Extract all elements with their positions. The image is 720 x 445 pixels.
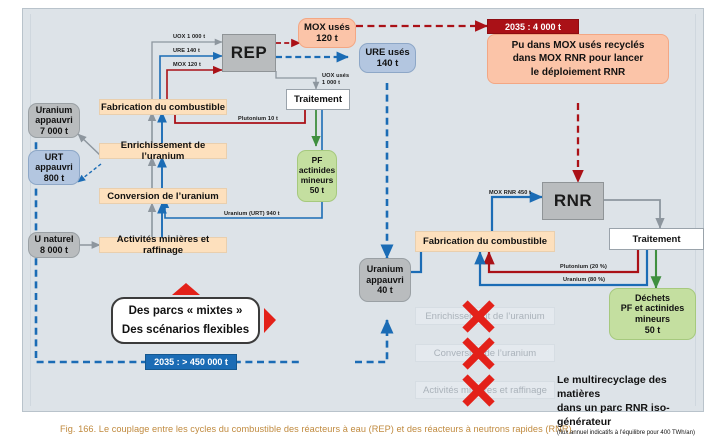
rep-process-fabrication[interactable]: Fabrication du combustible — [99, 99, 227, 115]
rnr-legend-line1: Le multirecyclage des matières — [557, 373, 707, 401]
stock-uranium-appauvri-line3: 7 000 t — [40, 126, 68, 137]
output-dechets-line4: 50 t — [645, 325, 661, 336]
suppressed-step-conversion: Conversion de l’uranium — [415, 344, 555, 362]
rnr-treatment-label: Traitement — [632, 234, 680, 245]
rnr-legend-note: (flux annuel indicatifs à l’équilibre po… — [557, 430, 707, 438]
output-mox-uses[interactable]: MOX usés 120 t — [298, 18, 356, 48]
annotation-red-note-line1: Pu dans MOX usés recyclés — [512, 39, 645, 52]
rnr-reactor-label: RNR — [554, 191, 592, 211]
rnr-legend: Le multirecyclage des matières dans un p… — [557, 373, 707, 438]
flow-label-uox-spent-qty: 1 000 t — [322, 80, 340, 86]
flow-label-mox-in: MOX 120 t — [173, 62, 201, 68]
callout-line2: Des scénarios flexibles — [122, 321, 249, 340]
stock-uranium-appauvri-line1: Uranium — [36, 105, 73, 116]
stock-u-naturel-8000[interactable]: U naturel 8 000 t — [28, 232, 80, 258]
rep-process-activites-minieres[interactable]: Activités minières et raffinage — [99, 237, 227, 253]
flow-label-uox-in: UOX 1 000 t — [173, 34, 205, 40]
rnr-legend-line2: dans un parc RNR iso-générateur — [557, 401, 707, 429]
rnr-treatment-box[interactable]: Traitement — [609, 228, 704, 250]
flow-label-uranium-rnr: Uranium (80 %) — [563, 277, 605, 283]
rep-process-activites-minieres-label: Activités minières et raffinage — [100, 234, 226, 256]
rep-reactor-box[interactable]: REP — [222, 34, 276, 72]
stock-uranium-appauvri-line2: appauvri — [35, 115, 73, 126]
output-pf-actinides-mineurs[interactable]: PF actinides mineurs 50 t — [297, 150, 337, 202]
rnr-process-fabrication[interactable]: Fabrication du combustible — [415, 231, 555, 252]
output-ure-uses-line2: 140 t — [377, 58, 399, 69]
flow-label-plutonium-rep: Plutonium 10 t — [238, 116, 278, 122]
rep-treatment-label: Traitement — [294, 94, 342, 105]
output-pf-line4: 50 t — [310, 186, 324, 196]
suppressed-step-conversion-label: Conversion de l’uranium — [434, 348, 536, 359]
rep-reactor-label: REP — [231, 43, 267, 63]
annotation-blue-tag-2035: 2035 : > 450 000 t — [145, 354, 237, 370]
output-dechets-line1: Déchets — [635, 293, 670, 304]
annotation-red-tag-2035: 2035 : 4 000 t — [487, 19, 579, 34]
suppressed-step-activites-label: Activités minières et raffinage — [423, 385, 547, 396]
output-dechets-line3: mineurs — [635, 314, 670, 325]
callout-parcs-mixtes: Des parcs « mixtes » Des scénarios flexi… — [111, 297, 260, 344]
stock-uranium-appauvri-40[interactable]: Uranium appauvri 40 t — [359, 258, 411, 302]
annotation-red-note: Pu dans MOX usés recyclés dans MOX RNR p… — [487, 34, 669, 84]
output-ure-uses-line1: URE usés — [365, 47, 409, 58]
stock-uranium-appauvri-7000[interactable]: Uranium appauvri 7 000 t — [28, 103, 80, 138]
annotation-red-tag-label: 2035 : 4 000 t — [505, 22, 561, 32]
output-dechets-pf-actinides[interactable]: Déchets PF et actinides mineurs 50 t — [609, 288, 696, 340]
rep-process-conversion-label: Conversion de l’uranium — [107, 191, 218, 202]
output-dechets-line2: PF et actinides — [621, 303, 685, 314]
rep-process-enrichissement[interactable]: Enrichissement de l’uranium — [99, 143, 227, 159]
suppressed-step-activites: Activités minières et raffinage — [415, 381, 555, 399]
rnr-process-fabrication-label: Fabrication du combustible — [423, 236, 547, 247]
stock-ua40-line3: 40 t — [377, 285, 393, 296]
stock-ua40-line1: Uranium — [367, 264, 404, 275]
stock-urt-appauvri-800[interactable]: URT appauvri 800 t — [28, 150, 80, 185]
flow-label-plutonium-rnr: Plutonium (20 %) — [560, 264, 607, 270]
rep-process-conversion[interactable]: Conversion de l’uranium — [99, 188, 227, 204]
output-mox-uses-line2: 120 t — [316, 33, 338, 44]
annotation-red-note-line3: le déploiement RNR — [531, 66, 625, 79]
stock-ua40-line2: appauvri — [366, 275, 404, 286]
stock-urt-appauvri-line1: URT — [45, 152, 64, 163]
output-mox-uses-line1: MOX usés — [304, 22, 350, 33]
stock-u-naturel-line1: U naturel — [34, 234, 73, 245]
flow-label-uranium-urt: Uranium (URT) 940 t — [224, 211, 280, 217]
suppressed-step-enrichissement-label: Enrichissement de l’uranium — [425, 311, 544, 322]
stock-urt-appauvri-line3: 800 t — [44, 173, 65, 184]
rep-process-fabrication-label: Fabrication du combustible — [101, 102, 225, 113]
annotation-red-note-line2: dans MOX RNR pour lancer — [513, 52, 644, 65]
output-ure-uses[interactable]: URE usés 140 t — [359, 43, 416, 73]
flow-label-ure-in: URE 140 t — [173, 48, 200, 54]
suppressed-step-enrichissement: Enrichissement de l’uranium — [415, 307, 555, 325]
flow-label-uox-spent: UOX usés — [322, 73, 349, 79]
callout-line1: Des parcs « mixtes » — [129, 302, 243, 321]
figure-container: REP Fabrication du combustible Enrichiss… — [0, 0, 720, 445]
stock-u-naturel-line2: 8 000 t — [40, 245, 68, 256]
annotation-blue-tag-label: 2035 : > 450 000 t — [154, 357, 228, 367]
rnr-reactor-box[interactable]: RNR — [542, 182, 604, 220]
stock-urt-appauvri-line2: appauvri — [35, 162, 73, 173]
rep-process-enrichissement-label: Enrichissement de l’uranium — [100, 140, 226, 162]
rep-treatment-box[interactable]: Traitement — [286, 89, 350, 110]
flow-label-mox-rnr: MOX RNR 450 t — [489, 190, 531, 196]
